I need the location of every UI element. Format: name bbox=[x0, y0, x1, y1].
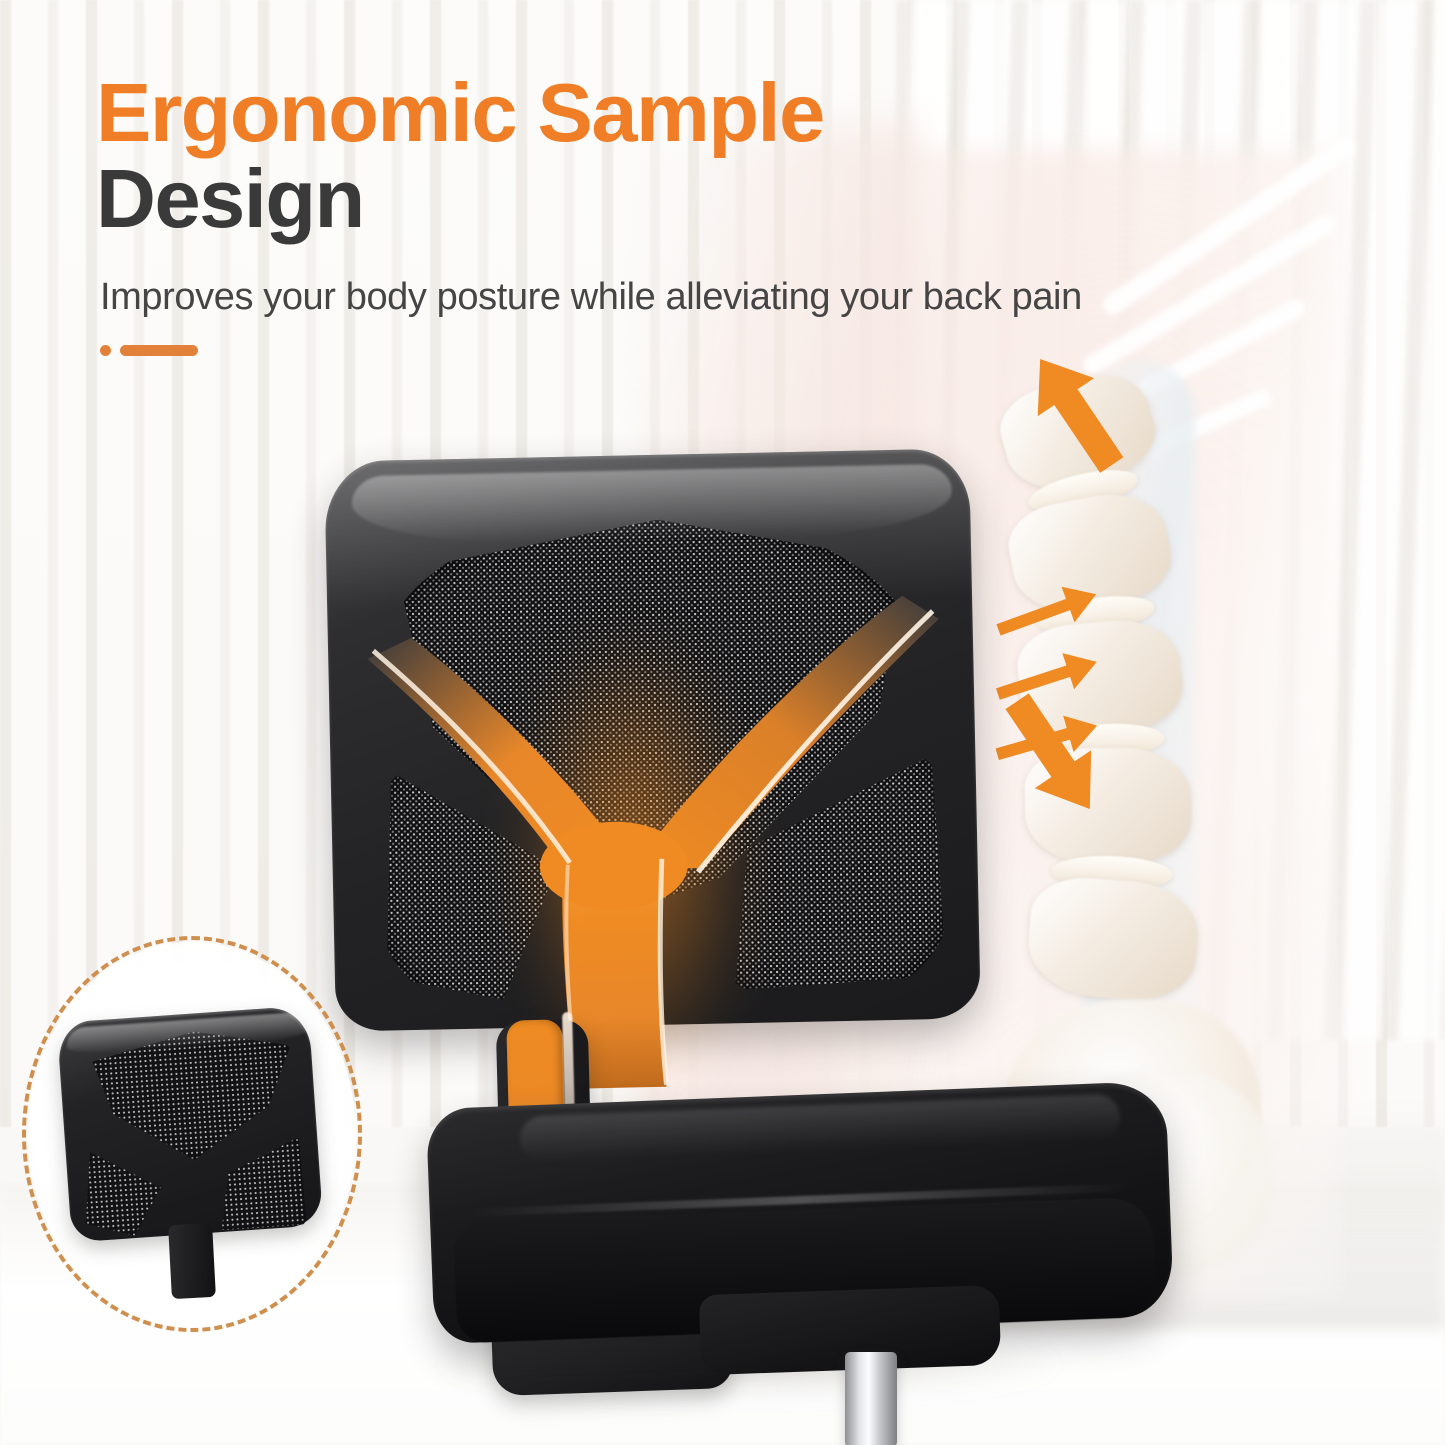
y-lumbar-frame bbox=[323, 448, 981, 1101]
headline-block: Ergonomic Sample Design Improves your bo… bbox=[96, 72, 1216, 356]
accent-divider bbox=[100, 345, 1216, 356]
accent-bar-icon bbox=[120, 345, 198, 356]
chair-gas-cylinder bbox=[845, 1352, 897, 1445]
subtitle-text: Improves your body posture while allevia… bbox=[100, 276, 1216, 319]
inset-dashed-ring bbox=[22, 936, 362, 1332]
accent-dot-icon bbox=[100, 345, 111, 356]
detail-circle-inset bbox=[22, 936, 362, 1332]
y-frame-shape bbox=[323, 448, 981, 1101]
headline-line-2: Design bbox=[96, 157, 1216, 242]
headline-line-1: Ergonomic Sample bbox=[96, 72, 1216, 153]
infographic-canvas: Ergonomic Sample Design Improves your bo… bbox=[0, 0, 1445, 1445]
